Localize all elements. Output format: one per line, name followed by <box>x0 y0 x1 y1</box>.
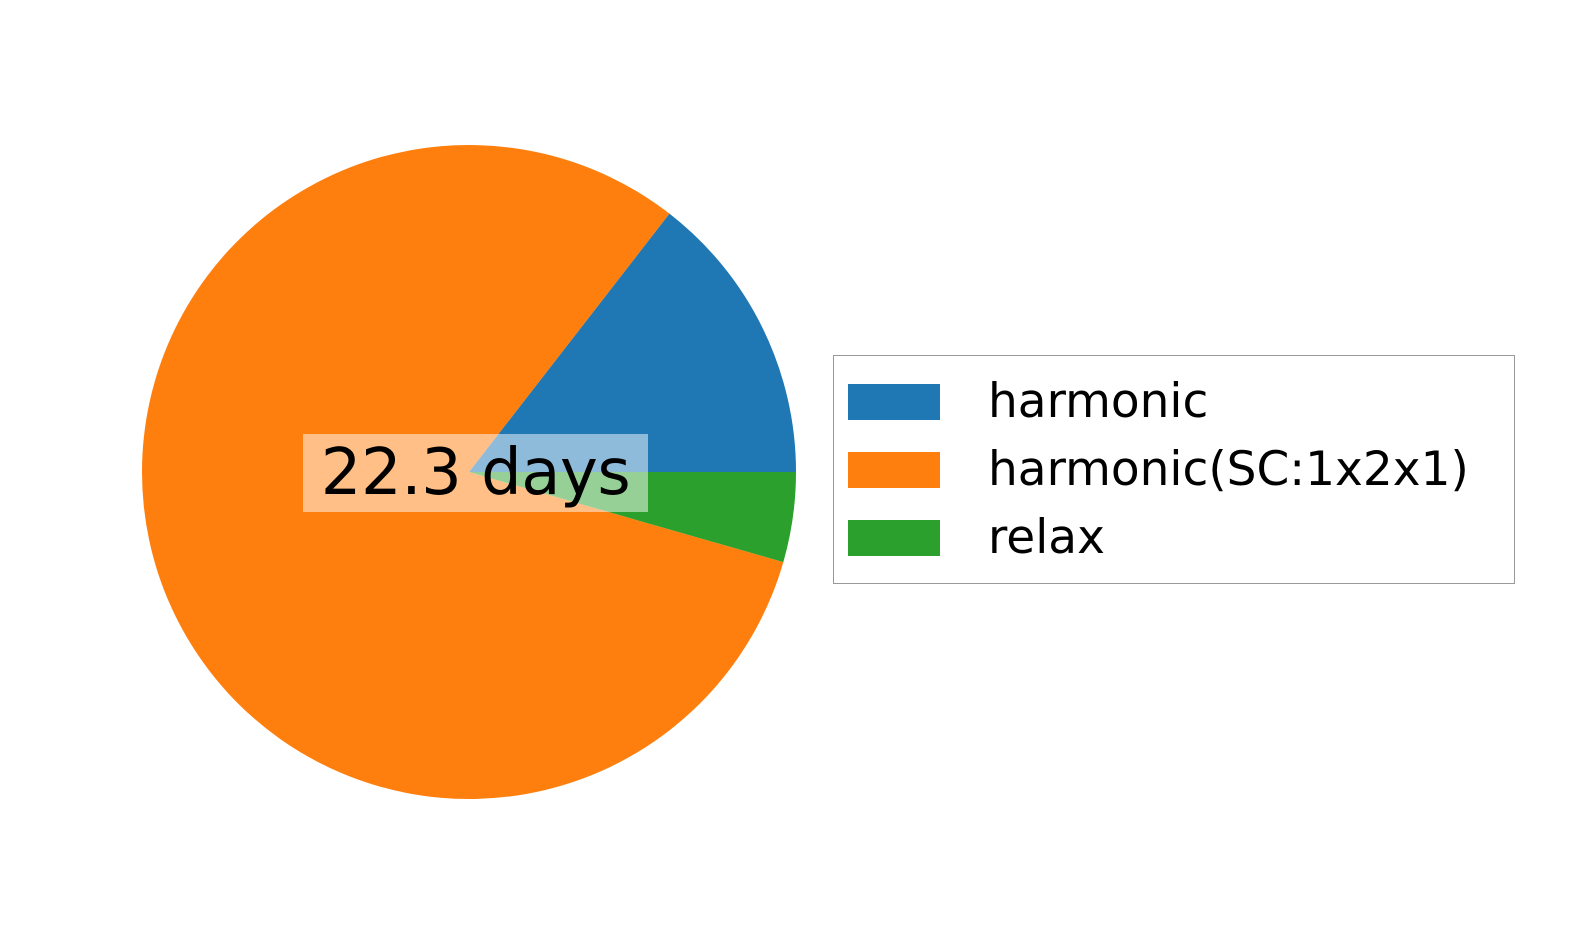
legend-items-container: harmonic harmonic(SC:1x2x1) relax <box>848 368 1504 573</box>
legend-swatch-harmonic <box>848 384 940 420</box>
center-annotation-text: 22.3 days <box>321 441 630 505</box>
pie-chart-figure: 22.3 days harmonic harmonic(SC:1x2x1) re… <box>0 0 1584 951</box>
legend-label-relax: relax <box>988 513 1105 563</box>
chart-legend: harmonic harmonic(SC:1x2x1) relax <box>833 355 1515 584</box>
center-annotation-box: 22.3 days <box>303 434 648 512</box>
legend-item-harmonic: harmonic <box>848 368 1504 436</box>
legend-item-harmonic-sc: harmonic(SC:1x2x1) <box>848 436 1504 504</box>
legend-item-relax: relax <box>848 504 1504 572</box>
legend-label-harmonic-sc: harmonic(SC:1x2x1) <box>988 445 1469 495</box>
legend-label-harmonic: harmonic <box>988 377 1208 427</box>
legend-swatch-relax <box>848 520 940 556</box>
legend-swatch-harmonic-sc <box>848 452 940 488</box>
